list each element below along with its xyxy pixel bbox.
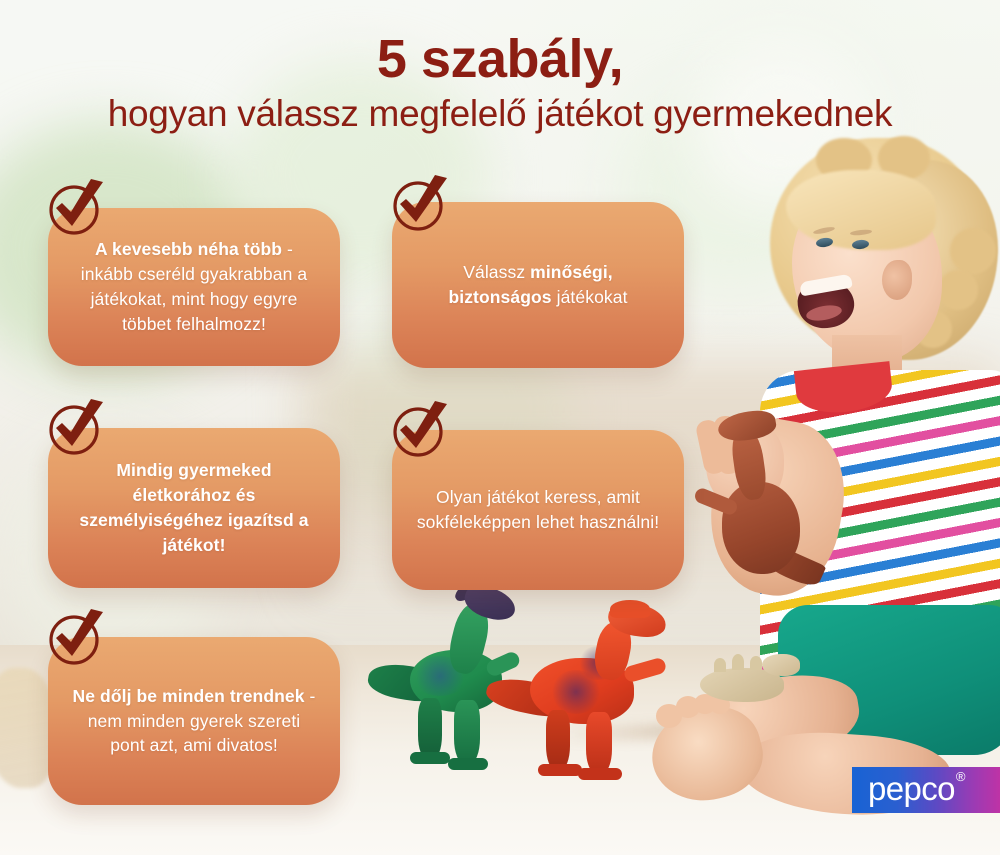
dino-leg [454, 700, 480, 764]
dino-arm [484, 650, 522, 678]
rule-card-3-text: Mindig gyermeked életkorához és személyi… [70, 458, 318, 557]
infographic-canvas: 5 szabály, hogyan válassz megfelelő játé… [0, 0, 1000, 855]
dino-head [762, 654, 800, 676]
registered-trademark-icon: ® [956, 769, 966, 784]
dino-foot [410, 752, 450, 764]
heading-block: 5 szabály, hogyan válassz megfelelő játé… [0, 32, 1000, 135]
dino-leg [418, 698, 442, 760]
dino-foot [538, 764, 582, 776]
check-circle-icon [388, 398, 452, 462]
dino-spike [750, 656, 762, 670]
page-subtitle: hogyan válassz megfelelő játékot gyermek… [0, 94, 1000, 135]
rule-card-3-bold: Mindig gyermeked életkorához és személyi… [79, 460, 308, 555]
pepco-logo[interactable]: pepco® [852, 767, 1000, 813]
ear [882, 260, 912, 300]
dino-leg [546, 710, 570, 770]
check-circle-icon [44, 396, 108, 460]
pepco-wordmark: pepco [868, 772, 955, 805]
dino-spike [732, 654, 744, 670]
dino-arm [623, 657, 668, 684]
hair-curl [938, 270, 978, 310]
rule-card-2-lead: Válassz [463, 262, 530, 282]
dino-foot [578, 768, 622, 780]
toy-dinosaur-brown [700, 420, 840, 610]
rule-card-2-text: Válassz minőségi, biztonságos játékokat [414, 260, 662, 310]
dino-leg [586, 712, 612, 774]
rule-card-1-bold: A kevesebb néha több [95, 239, 282, 259]
toy-dinosaur-tan [690, 650, 810, 720]
rule-card-5-text: Ne dőlj be minden trendnek - nem minden … [70, 684, 318, 759]
rule-card-4-text: Olyan játékot keress, amit sokféleképpen… [414, 485, 662, 535]
rule-card-5-bold: Ne dőlj be minden trendnek [73, 686, 305, 706]
toy-dinosaur-red [520, 600, 680, 780]
page-title: 5 szabály, [0, 32, 1000, 86]
check-circle-icon [44, 176, 108, 240]
check-circle-icon [44, 606, 108, 670]
rule-card-2-rest: játékokat [552, 287, 628, 307]
check-circle-icon [388, 172, 452, 236]
dino-foot [448, 758, 488, 770]
dino-spike [714, 658, 726, 672]
hair-curl [950, 228, 996, 274]
dino-dome [610, 600, 650, 618]
dino-arm [693, 486, 739, 516]
rule-card-1-text: A kevesebb néha több - inkább cseréld gy… [70, 237, 318, 336]
